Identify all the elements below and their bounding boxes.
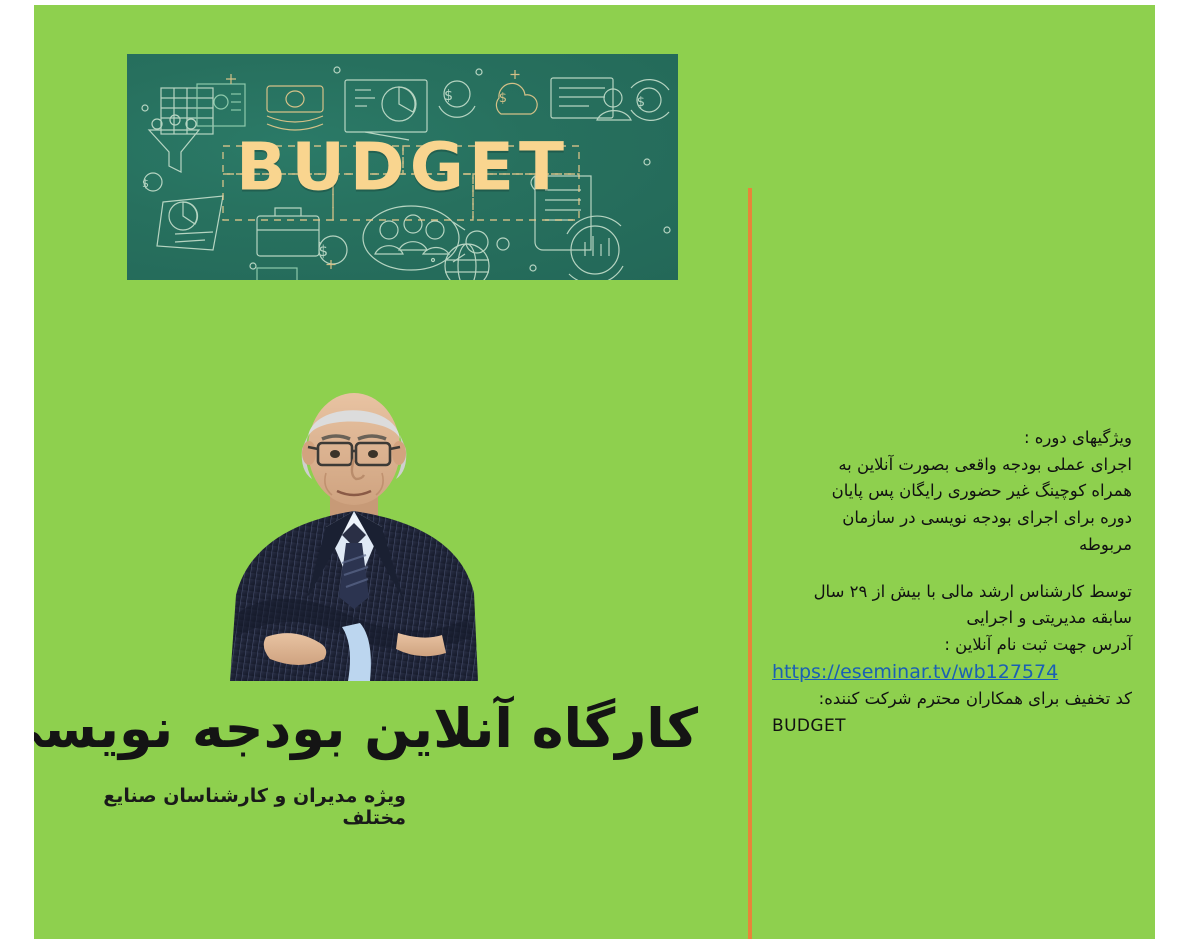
svg-text:$: $: [499, 91, 507, 106]
features-line-1: اجرای عملی بودجه واقعی بصورت آنلاین به: [772, 452, 1132, 479]
instructor-line-2: سابقه مدیریتی و اجرایی: [772, 605, 1132, 632]
registration-url-link[interactable]: https://eseminar.tv/wb127574: [772, 659, 1132, 687]
instructor-line-1: توسط کارشناس ارشد مالی با بیش از ۲۹ سال: [772, 579, 1132, 606]
features-heading: ویژگیهای دوره :: [772, 425, 1132, 452]
registration-label: آدرس جهت ثبت نام آنلاین :: [772, 632, 1132, 659]
headline-block: کارگاه آنلاین بودجه نویسی ویژه مدیران و …: [34, 695, 724, 829]
course-details-column: ویژگیهای دوره : اجرای عملی بودجه واقعی ب…: [772, 425, 1132, 741]
poster-slide: $ $ $: [34, 5, 1155, 939]
svg-text:$: $: [318, 242, 328, 260]
discount-label: کد تخفیف برای همکاران محترم شرکت کننده:: [772, 686, 1132, 713]
page-title: کارگاه آنلاین بودجه نویسی: [34, 695, 716, 763]
portrait-illustration: [222, 387, 486, 681]
page-subtitle: ویژه مدیران و کارشناسان صنایع مختلف: [34, 785, 716, 829]
features-line-2: همراه کوچینگ غیر حضوری رایگان پس پایان: [772, 478, 1132, 505]
svg-text:$: $: [444, 88, 453, 104]
banner-word-budget: BUDGET: [127, 129, 678, 206]
instructor-portrait: [222, 387, 486, 681]
features-line-3: دوره برای اجرای بودجه نویسی در سازمان: [772, 505, 1132, 532]
svg-text:$: $: [637, 95, 645, 110]
vertical-divider-line: [748, 188, 752, 939]
section-spacer: [772, 559, 1132, 579]
discount-code: BUDGET: [772, 713, 1132, 741]
budget-banner-image: $ $ $: [127, 54, 678, 280]
features-line-4: مربوطه: [772, 532, 1132, 559]
